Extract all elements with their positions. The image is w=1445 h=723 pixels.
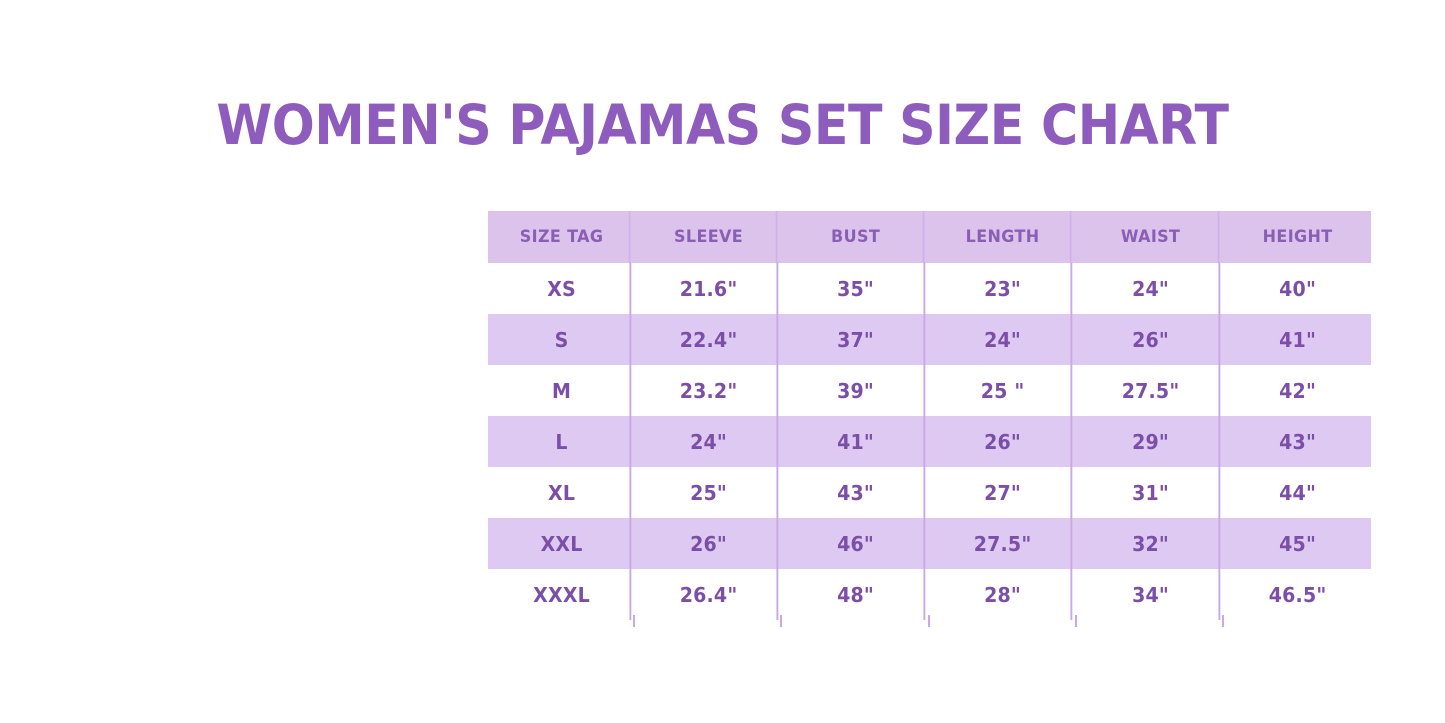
cell-waist: 31" — [1080, 467, 1220, 518]
cell-height: 46.5" — [1227, 569, 1367, 620]
column-header-bust: BUST — [787, 211, 925, 263]
page-title: WOMEN'S PAJAMAS SET SIZE CHART — [58, 94, 1387, 156]
cell-sleeve: 24" — [639, 416, 779, 467]
cell-size-tag: M — [492, 365, 632, 416]
cell-sleeve: 21.6" — [639, 263, 779, 314]
column-header-height: HEIGHT — [1228, 211, 1366, 263]
cell-height: 40" — [1227, 263, 1367, 314]
cell-length: 27" — [933, 467, 1073, 518]
cell-sleeve: 26" — [639, 518, 779, 569]
column-header-waist: WAIST — [1081, 211, 1219, 263]
cell-sleeve: 26.4" — [639, 569, 779, 620]
table-body: XS 21.6" 35" 23" 24" 40" S 22.4" 37" 24"… — [488, 263, 1371, 620]
cell-height: 44" — [1227, 467, 1367, 518]
cell-bust: 43" — [786, 467, 926, 518]
table-row: M 23.2" 39" 25 " 27.5" 42" — [488, 365, 1371, 416]
cell-bust: 48" — [786, 569, 926, 620]
column-header-length: LENGTH — [934, 211, 1072, 263]
cell-size-tag: XS — [492, 263, 632, 314]
cell-height: 42" — [1227, 365, 1367, 416]
cell-length: 28" — [933, 569, 1073, 620]
cell-waist: 27.5" — [1080, 365, 1220, 416]
cell-length: 25 " — [933, 365, 1073, 416]
table-header: SIZE TAG SLEEVE BUST LENGTH WAIST HEIGHT — [488, 211, 1371, 263]
cell-height: 45" — [1227, 518, 1367, 569]
cell-size-tag: XXXL — [492, 569, 632, 620]
cell-length: 23" — [933, 263, 1073, 314]
cell-length: 27.5" — [933, 518, 1073, 569]
cell-size-tag: L — [492, 416, 632, 467]
cell-bust: 41" — [786, 416, 926, 467]
table-header-row: SIZE TAG SLEEVE BUST LENGTH WAIST HEIGHT — [488, 211, 1371, 263]
cell-height: 41" — [1227, 314, 1367, 365]
table-row: S 22.4" 37" 24" 26" 41" — [488, 314, 1371, 365]
cell-bust: 37" — [786, 314, 926, 365]
cell-waist: 32" — [1080, 518, 1220, 569]
table-row: XS 21.6" 35" 23" 24" 40" — [488, 263, 1371, 314]
cell-waist: 29" — [1080, 416, 1220, 467]
size-chart-table-wrapper: SIZE TAG SLEEVE BUST LENGTH WAIST HEIGHT… — [488, 211, 1371, 620]
cell-length: 26" — [933, 416, 1073, 467]
size-chart-table: SIZE TAG SLEEVE BUST LENGTH WAIST HEIGHT… — [488, 211, 1371, 620]
cell-sleeve: 22.4" — [639, 314, 779, 365]
cell-bust: 39" — [786, 365, 926, 416]
column-header-size-tag: SIZE TAG — [492, 211, 630, 263]
cell-waist: 26" — [1080, 314, 1220, 365]
table-row: XL 25" 43" 27" 31" 44" — [488, 467, 1371, 518]
cell-waist: 34" — [1080, 569, 1220, 620]
cell-waist: 24" — [1080, 263, 1220, 314]
cell-height: 43" — [1227, 416, 1367, 467]
cell-size-tag: XXL — [492, 518, 632, 569]
table-row: XXL 26" 46" 27.5" 32" 45" — [488, 518, 1371, 569]
cell-bust: 46" — [786, 518, 926, 569]
cell-length: 24" — [933, 314, 1073, 365]
cell-size-tag: XL — [492, 467, 632, 518]
cell-bust: 35" — [786, 263, 926, 314]
table-row: L 24" 41" 26" 29" 43" — [488, 416, 1371, 467]
cell-sleeve: 25" — [639, 467, 779, 518]
table-row: XXXL 26.4" 48" 28" 34" 46.5" — [488, 569, 1371, 620]
cell-sleeve: 23.2" — [639, 365, 779, 416]
cell-size-tag: S — [492, 314, 632, 365]
size-chart-page: WOMEN'S PAJAMAS SET SIZE CHART SIZE TAG … — [0, 0, 1445, 723]
column-header-sleeve: SLEEVE — [640, 211, 778, 263]
